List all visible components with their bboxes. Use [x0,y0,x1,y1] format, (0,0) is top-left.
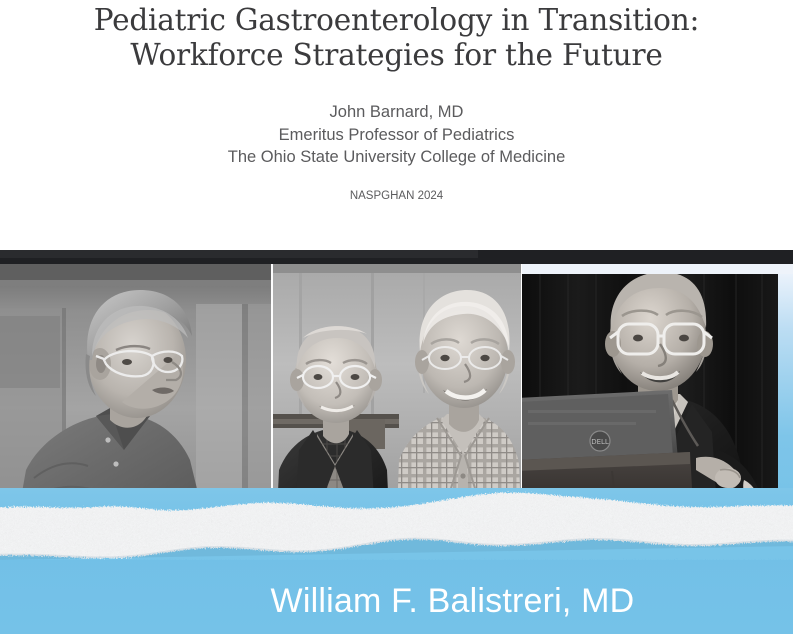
torn-paper-edge [0,480,793,560]
slide-title: Pediatric Gastroenterology in Transition… [0,3,793,73]
dark-top-bar [0,250,793,264]
author-byline: John Barnard, MD Emeritus Professor of P… [0,101,793,169]
presenter-name: William F. Balistreri, MD [0,580,793,622]
author-name: John Barnard, MD [0,101,793,124]
panel-right-top-band [522,264,793,274]
author-affiliation: The Ohio State University College of Med… [0,146,793,169]
svg-text:DELL: DELL [591,438,609,446]
slide-title-line-2: Workforce Strategies for the Future [0,38,793,73]
photo-collage-band: DELL [0,250,793,634]
slide-text-area: Pediatric Gastroenterology in Transition… [0,0,793,250]
dark-top-bar-segment [0,250,478,258]
photo-center [273,264,521,514]
author-title: Emeritus Professor of Pediatrics [0,124,793,147]
presentation-slide: Pediatric Gastroenterology in Transition… [0,0,793,634]
slide-title-line-1: Pediatric Gastroenterology in Transition… [0,3,793,38]
conference-label: NASPGHAN 2024 [0,190,793,202]
